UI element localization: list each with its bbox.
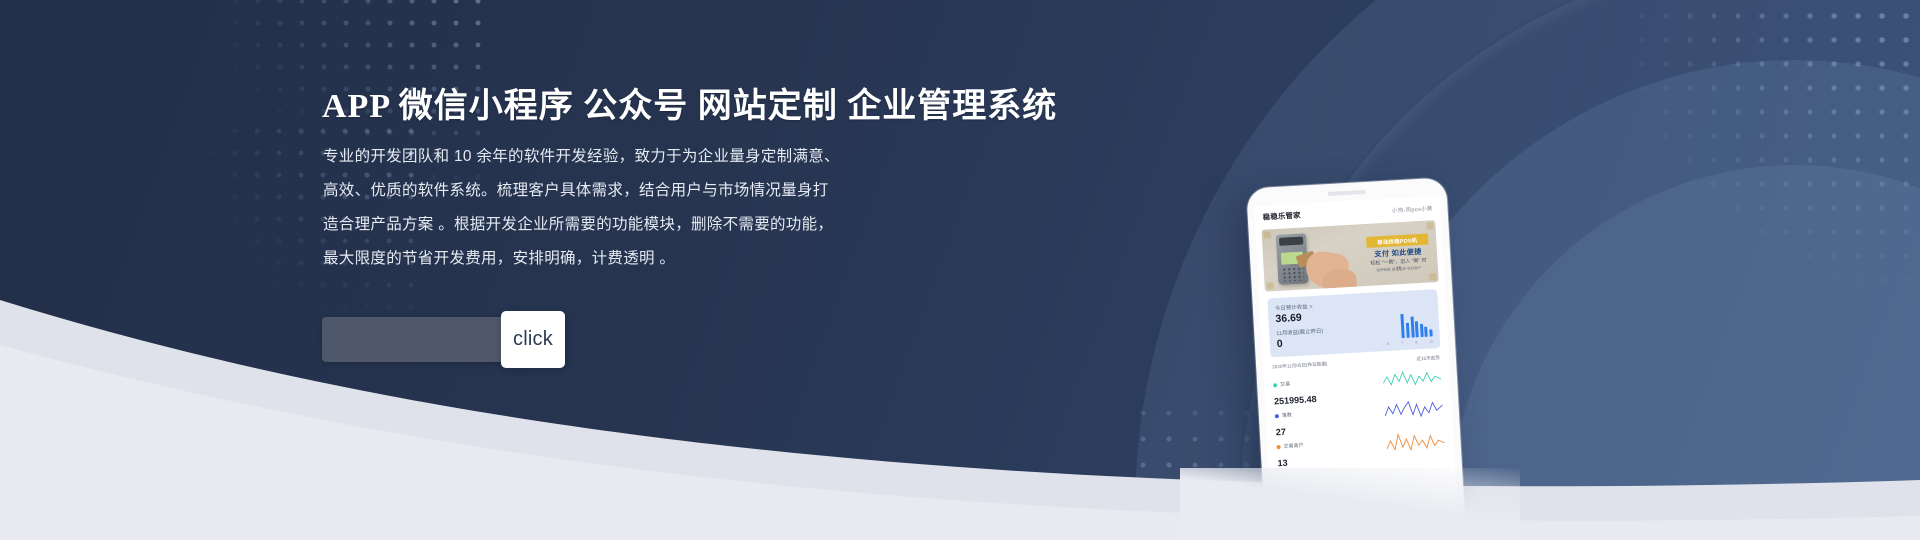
phone-mockup: 稳稳乐管家 小热-热pos小黄 移动终端POS机 支付 如此便捷 轻松 " [1246, 177, 1468, 540]
bar [1410, 317, 1414, 338]
axis-tick: 5 [1387, 342, 1389, 346]
status-dot-icon [1275, 414, 1279, 418]
earnings-card[interactable]: 今日预计收益 > 36.69 11月收益(截止昨日) 0 57911 [1267, 289, 1440, 357]
axis-tick: 7 [1401, 341, 1403, 345]
sparkline-chart [1386, 428, 1445, 453]
description-line-3: 造合理产品方案 。根据开发企业所需要的功能模块，删除不需要的功能， [323, 214, 963, 236]
sparkline-chart [1384, 397, 1443, 422]
bar [1420, 324, 1424, 337]
description-line-2: 高效、优质的软件系统。梳理客户具体需求，结合用户与市场情况量身打 [323, 180, 963, 202]
status-dot-icon [1277, 445, 1281, 449]
stat-value: 13 [1277, 457, 1305, 468]
cta-bar[interactable]: click [322, 317, 565, 362]
status-dot-icon [1273, 383, 1277, 387]
banner-badge: 移动终端POS机 [1366, 234, 1429, 248]
app-title: 稳稳乐管家 [1262, 210, 1301, 223]
bar [1425, 327, 1429, 337]
axis-tick: 11 [1429, 339, 1433, 343]
bar [1406, 322, 1410, 337]
tape-corner-icon [1264, 231, 1271, 238]
pos-printer-slot [1279, 236, 1303, 245]
app-account: 小热-热pos小黄 [1392, 204, 1433, 214]
stats-date-label: 2020年11月05日(昨日数据) [1272, 361, 1328, 370]
stat-label: 交易商户 [1283, 442, 1303, 450]
description-line-1: 专业的开发团队和 10 余年的软件开发经验，致力于为企业量身定制满意、 [323, 146, 963, 168]
tape-corner-icon [1266, 282, 1273, 289]
description-line-4: 最大限度的节省开发费用，安排明确，计费透明 。 [323, 248, 963, 270]
promo-banner[interactable]: 移动终端POS机 支付 如此便捷 轻松 "一刷"，迈入 "刷" 时代 免押包邮 … [1261, 220, 1438, 292]
bar [1429, 330, 1432, 337]
pos-keypad [1282, 266, 1305, 281]
hand-illustration [1322, 269, 1357, 292]
hero-banner: APP 微信小程序 公众号 网站定制 企业管理系统 专业的开发团队和 10 余年… [0, 0, 1920, 540]
tape-corner-icon [1426, 222, 1433, 229]
page-title: APP 微信小程序 公众号 网站定制 企业管理系统 [322, 78, 1057, 127]
bar [1401, 314, 1405, 338]
click-button[interactable]: click [501, 311, 565, 368]
tape-corner-icon [1429, 273, 1436, 280]
axis-tick: 9 [1415, 340, 1417, 344]
phone-screen: 稳稳乐管家 小热-热pos小黄 移动终端POS机 支付 如此便捷 轻松 " [1254, 196, 1461, 540]
sparkline-chart [1382, 366, 1441, 391]
stat-label: 笔数 [1282, 412, 1292, 420]
earnings-bar-chart [1401, 312, 1433, 338]
stat-label: 交易 [1280, 381, 1290, 389]
hero-description: 专业的开发团队和 10 余年的软件开发经验，致力于为企业量身定制满意、 高效、优… [323, 146, 963, 282]
stats-trend-label: 近15天走势 [1416, 355, 1440, 362]
bar [1415, 321, 1419, 338]
